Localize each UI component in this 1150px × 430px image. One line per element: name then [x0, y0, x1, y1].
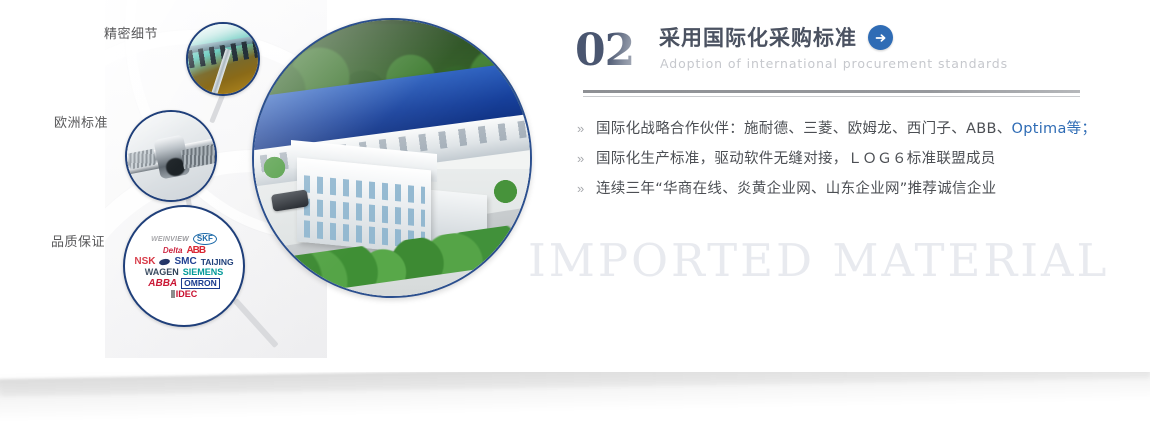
- european-standard-photo: [125, 110, 217, 202]
- brand-idec-label: IDEC: [176, 289, 198, 299]
- brand-abb: ABB: [186, 246, 205, 256]
- list-item: » 国际化战略合作伙伴：施耐德、三菱、欧姆龙、西门子、ABB、Optima等；: [577, 117, 1097, 147]
- bullet-chevron-icon: »: [577, 121, 596, 136]
- brand-smc: SMC: [174, 257, 196, 267]
- list-item-text: 国际化战略合作伙伴：施耐德、三菱、欧姆龙、西门子、ABB、Optima等；: [596, 117, 1096, 138]
- brand-skf: SKF: [193, 233, 217, 245]
- brand-taijing: TAIJING: [201, 258, 234, 267]
- page-title: 采用国际化采购标准: [659, 22, 857, 52]
- quality-brands-photo: WEINVIEW SKF Delta ABB NSK SMC TAIJING W…: [123, 205, 245, 327]
- bullet-chevron-icon: »: [577, 151, 596, 166]
- divider-thin: [583, 96, 1080, 97]
- brand-abba: ABBA: [148, 279, 177, 289]
- bottom-shadow-sweep: [0, 372, 1150, 430]
- label-european-standard: 欧洲标准: [54, 112, 108, 131]
- content-column: 02 采用国际化采购标准 Adoption of international p…: [573, 0, 1103, 430]
- brand-idec: IDEC: [171, 290, 198, 299]
- factory-scene: [252, 18, 532, 298]
- brand-delta: Delta: [163, 247, 183, 255]
- brand-wagen: WAGEN: [145, 268, 179, 277]
- list-item-highlight: Optima等；: [1012, 121, 1097, 137]
- page-subtitle: Adoption of international procurement st…: [660, 56, 1008, 71]
- precision-detail-photo: [186, 22, 260, 96]
- brand-omron: OMRON: [181, 278, 220, 289]
- watermark-text: IMPORTED MATERIAL: [528, 234, 1148, 287]
- list-item: » 国际化生产标准，驱动软件无缝对接，ＬＯＧ６标准联盟成员: [577, 147, 1097, 177]
- bullet-chevron-icon: »: [577, 181, 596, 196]
- list-item-text-main: 国际化战略合作伙伴：施耐德、三菱、欧姆龙、西门子、ABB、: [596, 121, 1012, 137]
- section-number-wrap: 02: [575, 26, 661, 82]
- office-floor-windows: [304, 175, 425, 203]
- label-precision-detail: 精密细节: [104, 23, 158, 42]
- brand-siemens: SIEMENS: [183, 268, 224, 277]
- bottom-shadow-band: [0, 372, 1150, 430]
- brand-nsk: NSK: [134, 257, 155, 267]
- list-item-text: 连续三年“华商在线、炎黄企业网、山东企业网”推荐诚信企业: [596, 177, 996, 198]
- section-number: 02: [575, 26, 661, 76]
- tree: [263, 152, 285, 183]
- factory-photo: [252, 18, 532, 298]
- promo-banner: 精密细节 欧洲标准 品质保证 WEINVIEW SKF Delta ABB: [0, 0, 1150, 430]
- tree: [493, 175, 518, 209]
- list-item-text: 国际化生产标准，驱动软件无缝对接，ＬＯＧ６标准联盟成员: [596, 147, 996, 168]
- arrow-right-icon[interactable]: [868, 25, 893, 50]
- smc-dot-icon: [159, 258, 171, 266]
- list-item: » 连续三年“华商在线、炎黄企业网、山东企业网”推荐诚信企业: [577, 177, 1097, 207]
- feature-list: » 国际化战略合作伙伴：施耐德、三菱、欧姆龙、西门子、ABB、Optima等； …: [577, 117, 1097, 207]
- divider-thick: [583, 90, 1080, 93]
- brand-weinview: WEINVIEW: [151, 236, 189, 243]
- label-quality-assurance: 品质保证: [51, 231, 105, 250]
- section-header: 02 采用国际化采购标准 Adoption of international p…: [573, 22, 1093, 84]
